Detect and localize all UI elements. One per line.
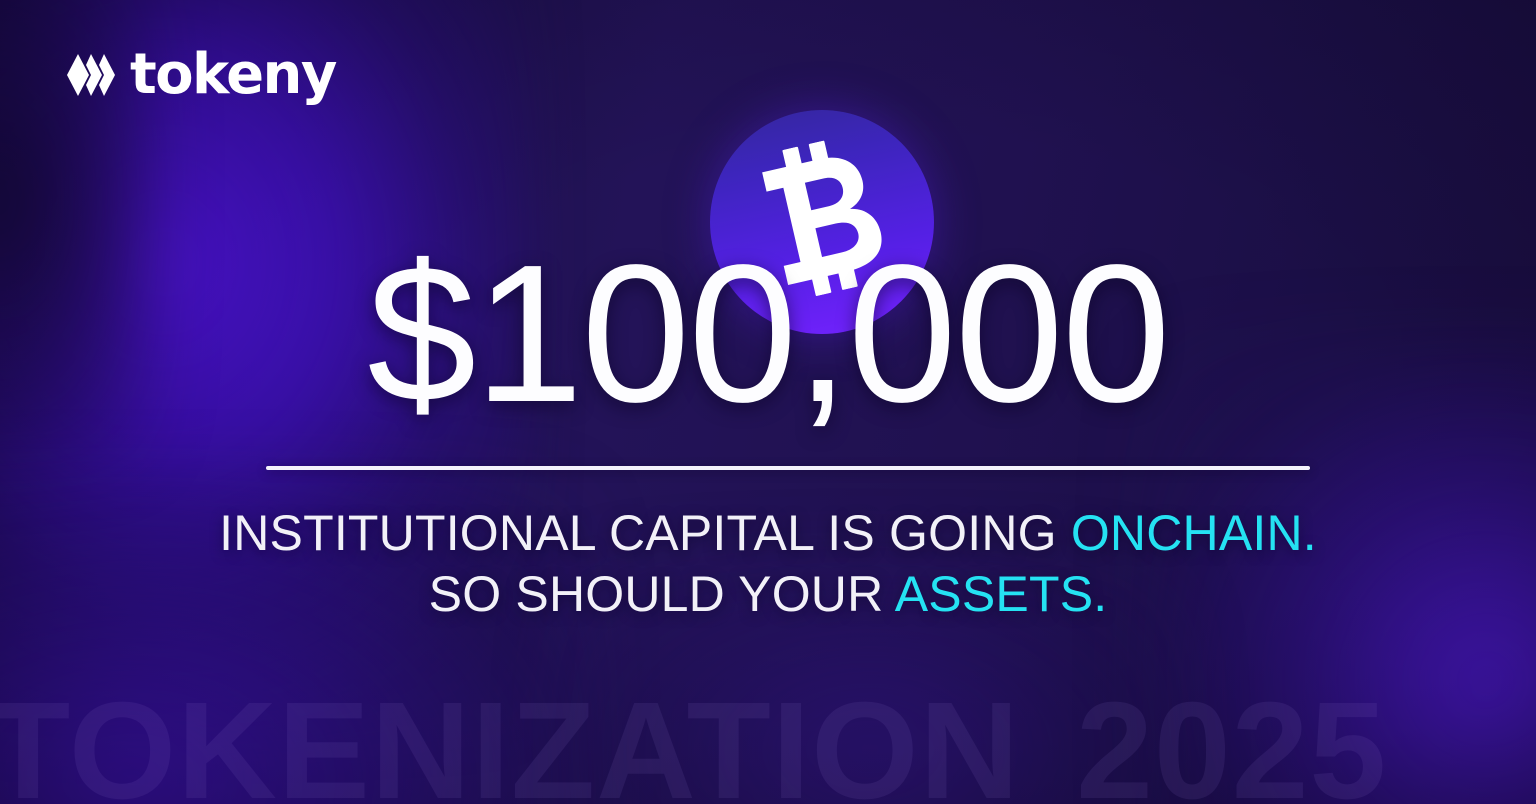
divider-rule [266,466,1310,470]
tagline-line-1-accent: ONCHAIN. [1071,505,1317,561]
tagline: INSTITUTIONAL CAPITAL IS GOING ONCHAIN. … [0,503,1536,625]
tokeny-wordmark: tokeny [130,47,336,103]
tagline-line-1-plain: INSTITUTIONAL CAPITAL IS GOING [219,505,1071,561]
watermark-text: TOKENIZATION2025 [0,682,1536,804]
watermark-year: 2025 [1076,674,1387,804]
watermark-word: TOKENIZATION [0,674,1020,804]
tokeny-chevrons-icon [66,53,120,97]
headline-amount: $100,000 [0,236,1536,432]
tagline-line-2: SO SHOULD YOUR ASSETS. [0,564,1536,625]
tagline-line-1: INSTITUTIONAL CAPITAL IS GOING ONCHAIN. [0,503,1536,564]
tagline-line-2-plain: SO SHOULD YOUR [429,566,895,622]
tokeny-logo[interactable]: tokeny [66,47,336,103]
tagline-line-2-accent: ASSETS. [895,566,1108,622]
social-card: TOKENIZATION2025 tokeny $100,000 INSTITU… [0,0,1536,804]
